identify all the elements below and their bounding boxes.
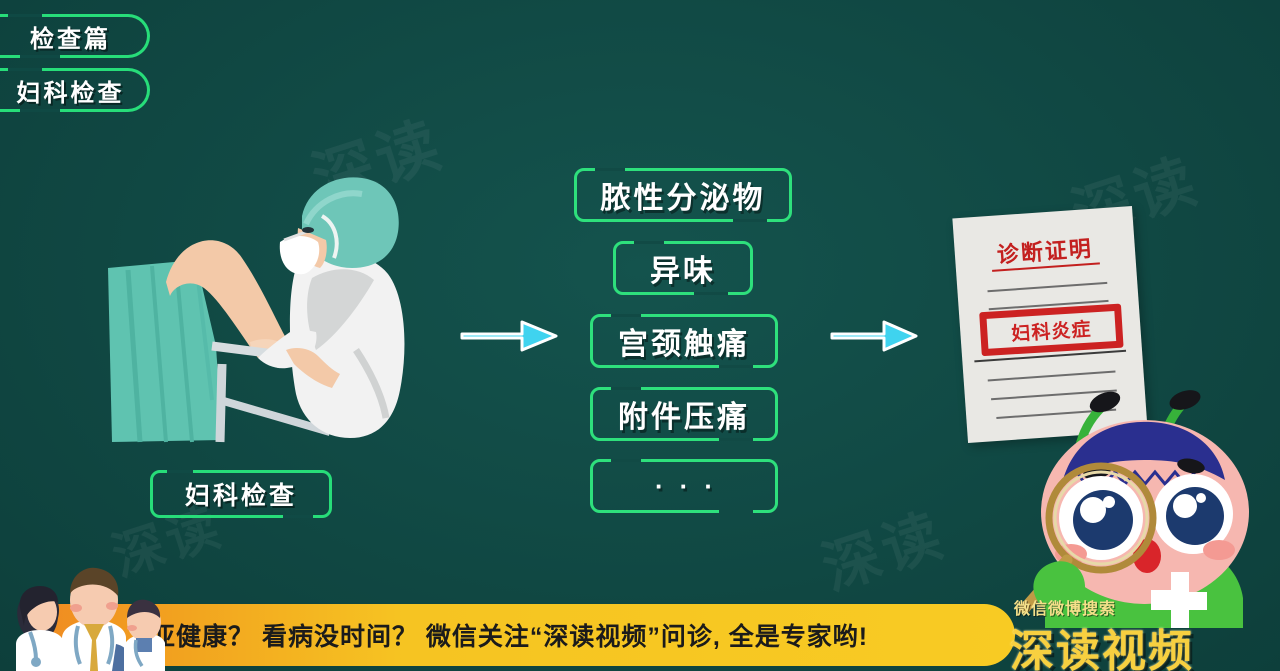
flow-arrow-right — [830, 316, 920, 361]
symptom-label: 附件压痛 — [618, 392, 750, 436]
symptom-box: 脓性分泌物 — [574, 168, 792, 222]
symptom-label: ··· — [639, 471, 729, 502]
symptom-box: 宫颈触痛 — [590, 314, 778, 368]
chapter-tag-label: 检查篇 — [12, 19, 125, 54]
symptom-label: 宫颈触痛 — [618, 319, 750, 363]
screenshot-canvas: 深读 深读 深读 深读 检查篇 妇科检查 — [0, 0, 1280, 671]
illustration-caption: 妇科检查 — [150, 470, 332, 518]
chapter-tag-secondary: 妇科检查 — [0, 68, 150, 112]
flow-arrow-right — [460, 316, 560, 361]
symptom-label: 异味 — [650, 246, 716, 290]
brand-title: 深读视频 — [1010, 615, 1194, 671]
symptom-box: 异味 — [613, 241, 753, 295]
illustration-caption-label: 妇科检查 — [185, 476, 297, 512]
diagnosis-stamp-label: 妇科炎症 — [1011, 314, 1093, 346]
promo-banner-text: 亚健康？ 看病没时间？ 微信关注“深读视频”问诊, 全是专家哟! — [150, 604, 1010, 666]
gynecological-exam-illustration — [100, 150, 430, 450]
watermark-text: 深读 — [810, 488, 954, 606]
doctors-illustration — [0, 560, 165, 671]
certificate-line — [987, 282, 1107, 292]
symptom-label: 脓性分泌物 — [601, 173, 766, 217]
symptom-box-ellipsis: ··· — [590, 459, 778, 513]
symptom-box: 附件压痛 — [590, 387, 778, 441]
diagnosis-stamp: 妇科炎症 — [979, 304, 1123, 357]
brand-logo: 微信微博搜索 深读视频 — [1002, 589, 1274, 669]
chapter-tag-label: 妇科检查 — [0, 73, 139, 108]
chapter-tag-primary: 检查篇 — [0, 14, 150, 58]
